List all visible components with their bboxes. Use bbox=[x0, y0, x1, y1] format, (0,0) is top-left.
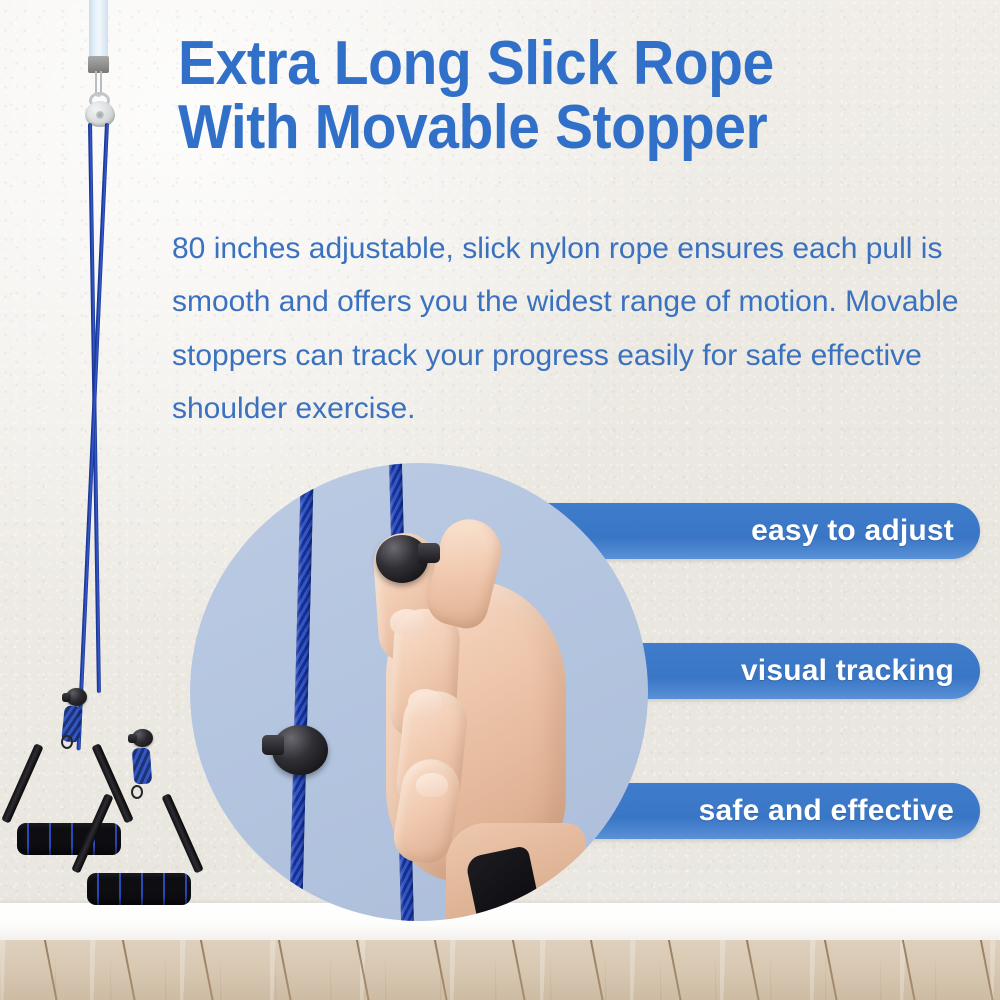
product-description: 80 inches adjustable, slick nylon rope e… bbox=[172, 222, 980, 436]
handle-foam-grip bbox=[17, 823, 121, 855]
stopper-bead-upper-nub bbox=[418, 543, 440, 563]
handle-ring-icon bbox=[131, 785, 143, 799]
fingernail bbox=[408, 689, 442, 715]
rope-knot-right bbox=[132, 747, 152, 784]
wood-plank-floor bbox=[0, 940, 1000, 1000]
door-anchor-strap bbox=[89, 0, 108, 57]
circular-inset-photo bbox=[190, 463, 648, 921]
inset-rope-left bbox=[289, 463, 315, 921]
product-infographic: easy to adjust visual tracking safe and … bbox=[0, 0, 1000, 1000]
hand-illustration bbox=[338, 523, 588, 921]
stopper-bead-left-nub bbox=[62, 693, 71, 702]
handle-ring-icon bbox=[61, 735, 73, 749]
handle-foam-grip bbox=[87, 873, 191, 905]
stopper-bead-lower-nub bbox=[262, 735, 284, 755]
stopper-bead-right-nub bbox=[128, 734, 137, 743]
page-title: Extra Long Slick Rope With Movable Stopp… bbox=[178, 32, 925, 160]
pulley-hub bbox=[96, 111, 104, 119]
fingernail bbox=[390, 609, 424, 635]
wood-grain-texture bbox=[0, 940, 1000, 1000]
fingernail bbox=[416, 773, 448, 797]
